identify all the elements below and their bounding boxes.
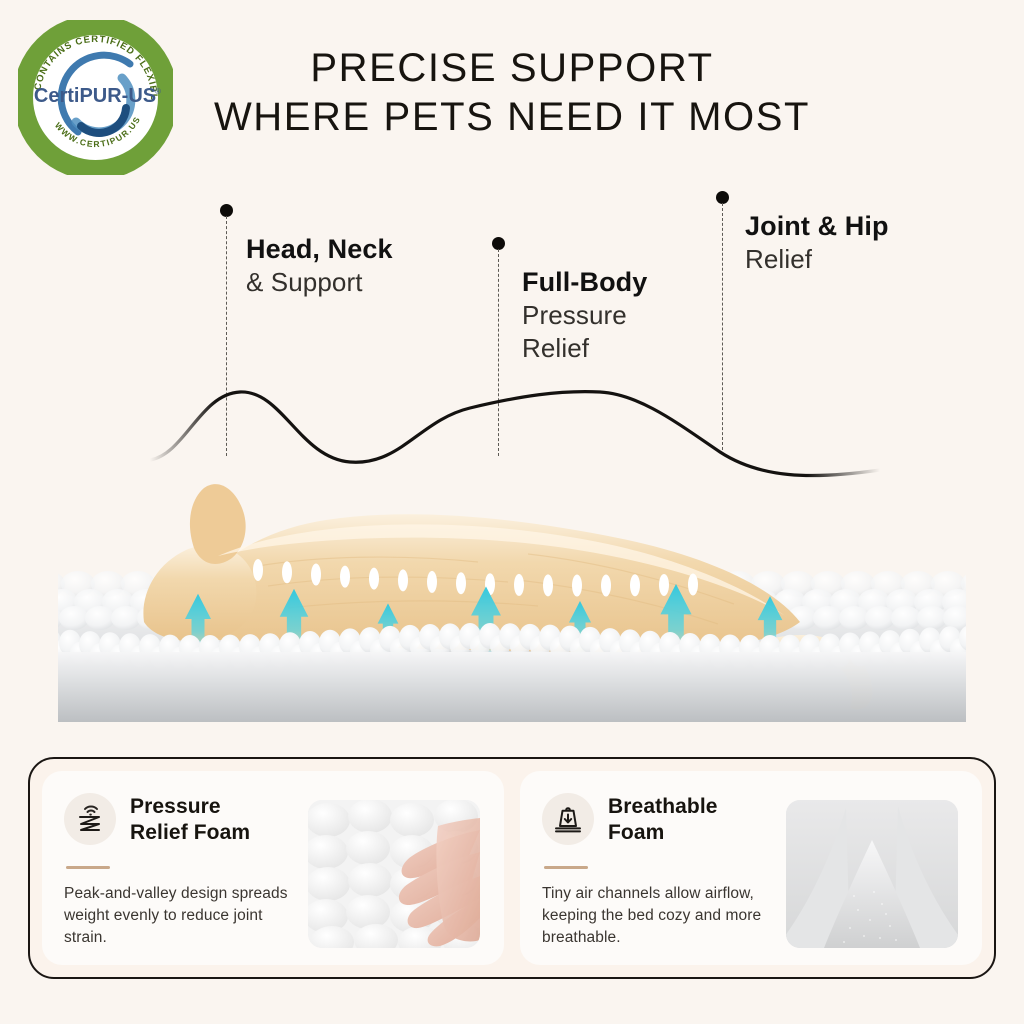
feature-panel: Pressure Relief Foam Peak-and-valley des…: [28, 757, 996, 979]
callout-title-head-neck: Head, Neck: [246, 232, 393, 266]
feature-description-pressure-relief-foam: Peak-and-valley design spreads weight ev…: [64, 883, 292, 949]
headline-line-2: WHERE PETS NEED IT MOST: [0, 93, 1024, 142]
dog-on-foam-bed-photo: [58, 446, 966, 722]
foam-air-channels-thumbnail: [786, 800, 958, 948]
callout-head-neck: Head, Neck & Support: [246, 232, 393, 299]
callout-joint-hip: Joint & Hip Relief: [745, 209, 889, 276]
page-title: PRECISE SUPPORT WHERE PETS NEED IT MOST: [0, 44, 1024, 142]
callout-subtitle-joint-hip: Relief: [745, 243, 889, 276]
weight-press-down-arrow-icon: [542, 793, 594, 845]
callout-subtitle-head-neck: & Support: [246, 266, 393, 299]
pressure-wave-spring-icon: [64, 793, 116, 845]
feature-title-pressure-relief-foam: Pressure Relief Foam: [130, 793, 250, 846]
headline-line-1: PRECISE SUPPORT: [0, 44, 1024, 93]
hand-pressing-foam-thumbnail: [308, 800, 480, 948]
feature-title-breathable-foam: Breathable Foam: [608, 793, 718, 846]
feature-divider: [66, 866, 110, 869]
feature-card-pressure-relief-foam: Pressure Relief Foam Peak-and-valley des…: [42, 771, 504, 965]
callout-title-joint-hip: Joint & Hip: [745, 209, 889, 243]
feature-description-breathable-foam: Tiny air channels allow airflow, keeping…: [542, 883, 770, 949]
feature-card-breathable-foam: Breathable Foam Tiny air channels allow …: [520, 771, 982, 965]
infographic-canvas: CONTAINS CERTIFIED FLEXIBLE POLYURETHANE…: [0, 0, 1024, 1024]
callout-title-full-body: Full-Body: [522, 265, 647, 299]
feature-divider: [544, 866, 588, 869]
